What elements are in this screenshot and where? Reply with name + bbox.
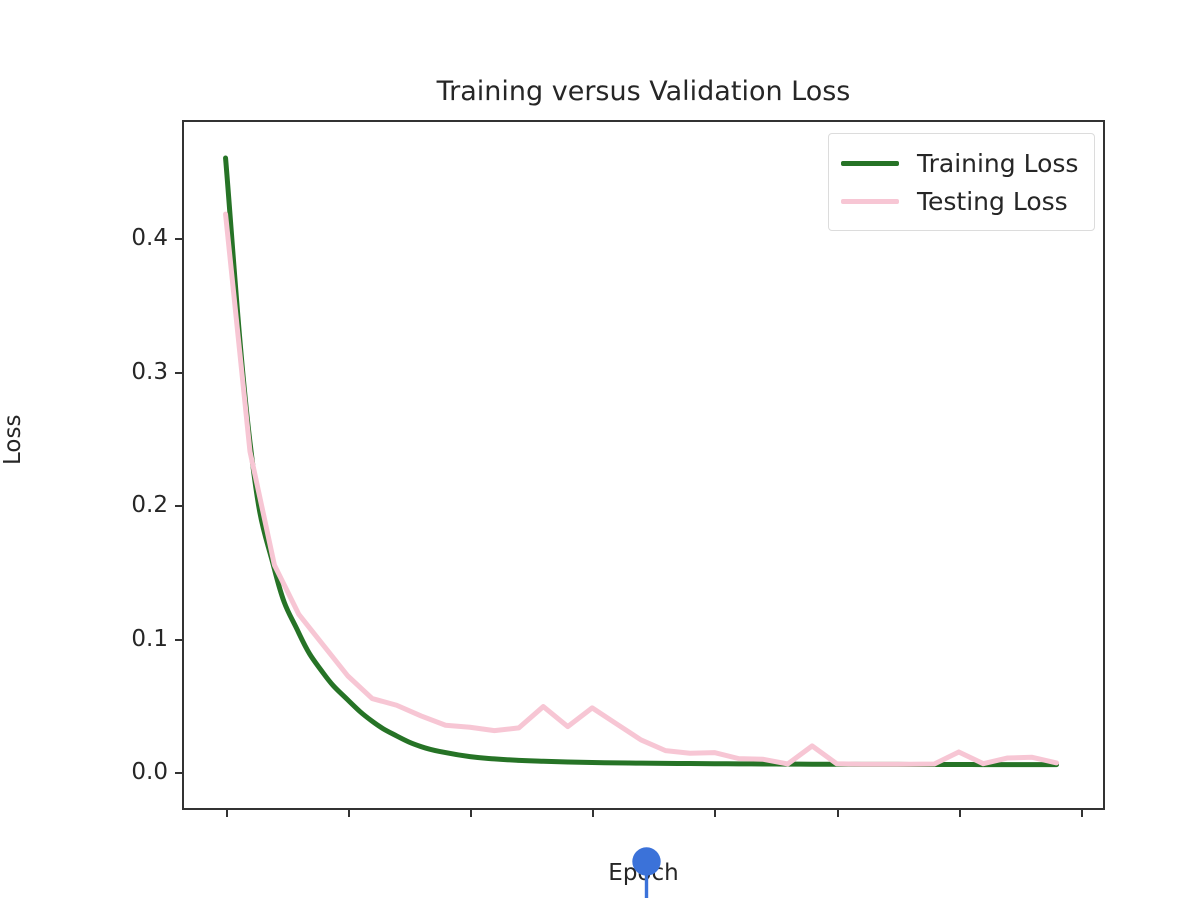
y-tick-label: 0.3: [131, 359, 168, 385]
chart-title: Training versus Validation Loss: [182, 76, 1105, 107]
x-tick-mark: [1081, 810, 1083, 817]
y-tick-label: 0.0: [131, 759, 168, 785]
y-tick-mark: [175, 639, 182, 641]
matplotlib-figure: Training versus Validation Loss Loss Epo…: [0, 0, 1200, 898]
legend-item-training-loss: Training Loss: [841, 144, 1078, 182]
y-tick-label: 0.4: [131, 225, 168, 251]
y-tick-label: 0.1: [131, 626, 168, 652]
legend-item-testing-loss: Testing Loss: [841, 182, 1078, 220]
y-tick-mark: [175, 505, 182, 507]
legend-swatch-training-loss: [841, 161, 899, 166]
x-tick-mark: [470, 810, 472, 817]
legend-swatch-testing-loss: [841, 199, 899, 204]
y-tick-mark: [175, 238, 182, 240]
x-axis-label: Epoch: [182, 860, 1105, 886]
y-axis-tick-labels: 0.00.10.20.30.4: [0, 120, 182, 810]
x-tick-mark: [959, 810, 961, 817]
series-line-training-loss: [226, 158, 1057, 765]
x-tick-mark: [226, 810, 228, 817]
x-tick-mark: [592, 810, 594, 817]
y-tick-mark: [175, 372, 182, 374]
x-tick-mark: [714, 810, 716, 817]
legend-label-testing-loss: Testing Loss: [917, 187, 1068, 216]
x-tick-mark: [348, 810, 350, 817]
legend-label-training-loss: Training Loss: [917, 149, 1078, 178]
y-tick-label: 0.2: [131, 492, 168, 518]
y-tick-mark: [175, 772, 182, 774]
x-tick-mark: [837, 810, 839, 817]
series-line-testing-loss: [226, 214, 1057, 764]
chart-legend: Training Loss Testing Loss: [828, 133, 1095, 231]
